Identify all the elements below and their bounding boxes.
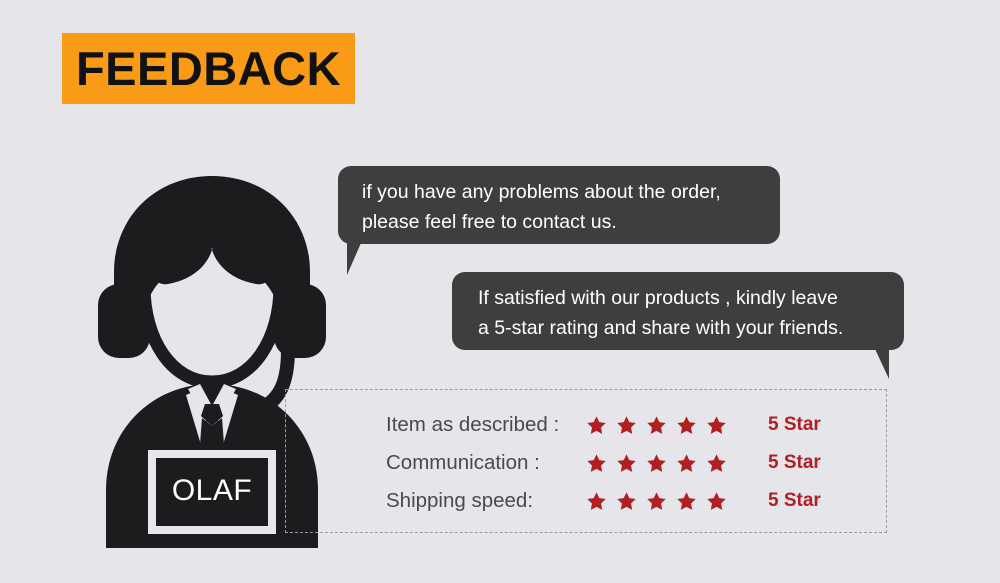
- support-contact-line-1: if you have any problems about the order…: [362, 177, 780, 207]
- feedback-banner-graphic: FEEDBACK: [0, 0, 1000, 583]
- star-icon: [616, 415, 637, 436]
- ratings-panel: Item as described : 5 Star Communication…: [285, 389, 887, 533]
- star-icon: [646, 453, 667, 474]
- rating-value: 5 Star: [756, 490, 821, 512]
- star-icon: [706, 453, 727, 474]
- brand-label: OLAF: [172, 474, 252, 507]
- ratings-list: Item as described : 5 Star Communication…: [386, 406, 866, 520]
- star-icon: [646, 415, 667, 436]
- star-icon: [586, 453, 607, 474]
- feedback-banner: FEEDBACK: [62, 33, 355, 104]
- rating-stars: [586, 491, 756, 512]
- rating-value: 5 Star: [756, 452, 821, 474]
- page-title: FEEDBACK: [76, 45, 341, 92]
- rating-label: Shipping speed:: [386, 489, 586, 513]
- rating-request-bubble-tail: [845, 349, 889, 379]
- rating-row-item-as-described: Item as described : 5 Star: [386, 406, 866, 444]
- star-icon: [616, 491, 637, 512]
- rating-value: 5 Star: [756, 414, 821, 436]
- support-contact-bubble-tail: [347, 243, 391, 275]
- star-icon: [676, 453, 697, 474]
- support-contact-bubble: if you have any problems about the order…: [338, 166, 780, 244]
- star-icon: [676, 491, 697, 512]
- rating-label: Item as described :: [386, 413, 586, 437]
- star-icon: [706, 491, 727, 512]
- rating-request-line-2: a 5-star rating and share with your frie…: [478, 313, 904, 343]
- rating-row-communication: Communication : 5 Star: [386, 444, 866, 482]
- star-icon: [586, 491, 607, 512]
- star-icon: [676, 415, 697, 436]
- star-icon: [646, 491, 667, 512]
- rating-stars: [586, 415, 756, 436]
- rating-request-bubble: If satisfied with our products , kindly …: [452, 272, 904, 350]
- rating-label: Communication :: [386, 451, 586, 475]
- rating-row-shipping-speed: Shipping speed: 5 Star: [386, 482, 866, 520]
- rating-stars: [586, 453, 756, 474]
- star-icon: [586, 415, 607, 436]
- rating-request-line-1: If satisfied with our products , kindly …: [478, 283, 904, 313]
- support-contact-line-2: please feel free to contact us.: [362, 207, 780, 237]
- star-icon: [616, 453, 637, 474]
- star-icon: [706, 415, 727, 436]
